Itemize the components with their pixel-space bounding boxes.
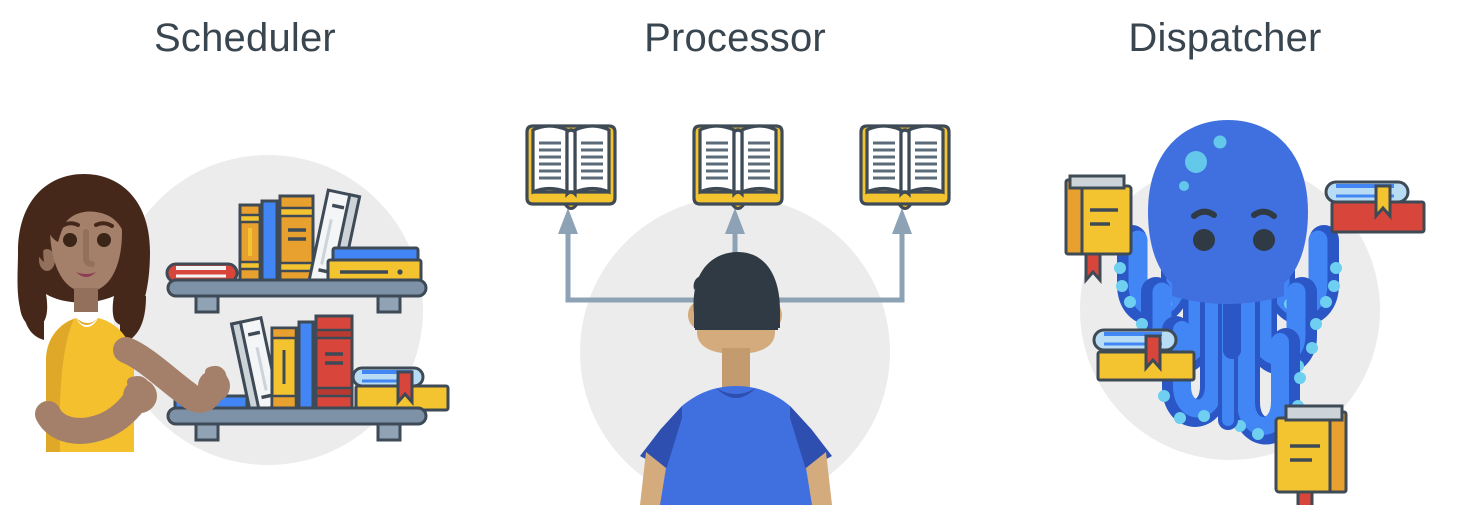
person-neck	[722, 348, 750, 390]
book-lower-right	[1276, 406, 1346, 505]
diagram-root: Scheduler	[0, 0, 1470, 505]
red-upright-book-lower	[316, 316, 352, 410]
woman-neck	[74, 288, 98, 312]
dispatcher-illustration	[980, 100, 1470, 505]
scheduler-illustration	[0, 100, 490, 505]
woman-eye-right	[97, 233, 111, 247]
open-book-left	[527, 126, 615, 209]
panel-dispatcher: Dispatcher	[980, 0, 1470, 505]
open-book-center	[694, 126, 782, 209]
panel-title-processor: Processor	[490, 16, 980, 60]
person-shirt-hem	[660, 468, 812, 505]
octopus-head	[1148, 120, 1308, 304]
yellow-upright-book-lower	[272, 328, 296, 410]
orange-upright-book	[240, 205, 260, 282]
panel-title-scheduler: Scheduler	[0, 16, 490, 60]
processor-illustration	[490, 100, 980, 505]
open-book-right	[861, 126, 949, 209]
woman-eye-left	[63, 233, 77, 247]
panel-scheduler: Scheduler	[0, 0, 490, 505]
woman-hair-shoulder-left	[22, 296, 44, 340]
blue-upright-book-lower	[299, 322, 313, 410]
panel-title-dispatcher: Dispatcher	[980, 16, 1470, 60]
orange-wide-upright-book	[280, 196, 313, 282]
blue-upright-book	[262, 201, 277, 282]
panel-processor: Processor	[490, 0, 980, 505]
book-upper-right	[1326, 182, 1424, 232]
